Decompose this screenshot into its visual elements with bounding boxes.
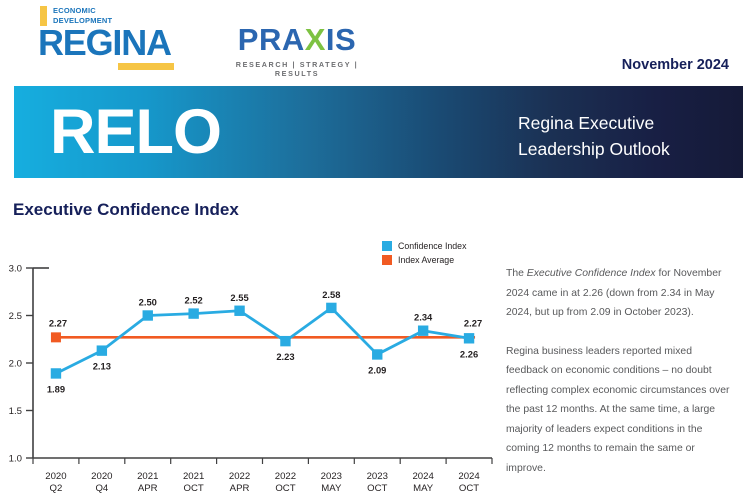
economic-development-regina-logo: ECONOMIC DEVELOPMENT REGINA — [14, 6, 184, 70]
commentary-p1-emphasis: Executive Confidence Index — [527, 268, 656, 279]
legend-swatch-confidence-index — [382, 241, 392, 251]
x-tick-label-period: Q2 — [50, 483, 63, 494]
confidence-index-point — [464, 333, 474, 343]
index-average-label-right: 2.27 — [464, 317, 482, 328]
commentary-paragraph-2: Regina business leaders reported mixed f… — [506, 342, 734, 479]
banner-title: RELO — [50, 96, 221, 168]
praxis-wordmark-pre: PRA — [238, 22, 305, 57]
ed-eyebrow-line1: ECONOMIC — [53, 6, 112, 16]
commentary-paragraph-1: The Executive Confidence Index for Novem… — [506, 264, 734, 323]
x-tick-label-period: OCT — [459, 483, 479, 494]
confidence-index-data-label: 2.55 — [230, 292, 248, 303]
page-header: ECONOMIC DEVELOPMENT REGINA PRAXIS RESEA… — [0, 0, 743, 86]
legend-swatch-index-average — [382, 255, 392, 265]
x-tick-label-period: OCT — [275, 483, 295, 494]
confidence-index-data-label: 2.23 — [276, 351, 294, 362]
page-title: Executive Confidence Index — [13, 200, 239, 220]
confidence-index-point — [280, 336, 290, 346]
confidence-index-data-label: 2.58 — [322, 289, 340, 300]
x-tick-label-year: 2021 — [137, 471, 158, 482]
x-tick-label-period: MAY — [321, 483, 342, 494]
chart-legend: Confidence Index Index Average — [382, 239, 466, 267]
x-tick-label-period: APR — [138, 483, 158, 494]
report-date: November 2024 — [622, 57, 729, 73]
legend-label-confidence-index: Confidence Index — [398, 241, 466, 251]
y-tick-label: 2.5 — [9, 311, 22, 322]
confidence-index-point — [188, 308, 198, 318]
x-tick-label-period: Q4 — [95, 483, 108, 494]
confidence-index-point — [51, 368, 61, 378]
confidence-index-point — [372, 349, 382, 359]
index-average-label-left: 2.27 — [49, 317, 67, 328]
x-tick-label-year: 2023 — [321, 471, 342, 482]
confidence-index-chart: 1.01.52.02.53.02020Q22020Q42021APR2021OC… — [0, 232, 500, 494]
legend-label-index-average: Index Average — [398, 255, 454, 265]
x-tick-label-period: APR — [230, 483, 250, 494]
banner-subtitle-line2: Leadership Outlook — [518, 136, 670, 162]
x-tick-label-year: 2020 — [45, 471, 66, 482]
confidence-index-point — [418, 326, 428, 336]
praxis-wordmark: PRAXIS — [212, 24, 382, 56]
chart-svg: 1.01.52.02.53.02020Q22020Q42021APR2021OC… — [0, 232, 500, 494]
commentary-p1-pre: The — [506, 268, 527, 279]
praxis-wordmark-post: IS — [326, 22, 356, 57]
banner-subtitle: Regina Executive Leadership Outlook — [518, 110, 670, 162]
confidence-index-point — [326, 303, 336, 313]
confidence-index-line — [56, 308, 469, 374]
index-average-marker — [51, 332, 61, 342]
y-tick-label: 3.0 — [9, 263, 22, 274]
legend-item-index-average: Index Average — [382, 253, 466, 267]
confidence-index-data-label: 2.13 — [93, 361, 111, 372]
x-tick-label-year: 2020 — [91, 471, 112, 482]
confidence-index-data-label: 2.09 — [368, 364, 386, 375]
confidence-index-data-label: 2.26 — [460, 348, 478, 359]
x-tick-label-year: 2023 — [367, 471, 388, 482]
praxis-logo: PRAXIS RESEARCH | STRATEGY | RESULTS — [212, 24, 382, 78]
praxis-wordmark-x: X — [305, 22, 326, 57]
y-tick-label: 2.0 — [9, 358, 22, 369]
confidence-index-point — [143, 310, 153, 320]
x-tick-label-year: 2024 — [412, 471, 434, 482]
x-tick-label-year: 2024 — [458, 471, 480, 482]
commentary-column: The Executive Confidence Index for Novem… — [506, 264, 734, 497]
relo-banner: RELO Regina Executive Leadership Outlook — [14, 86, 743, 178]
x-tick-label-year: 2021 — [183, 471, 204, 482]
confidence-index-data-label: 2.34 — [414, 312, 433, 323]
regina-underline-icon — [118, 63, 174, 70]
x-tick-label-year: 2022 — [229, 471, 250, 482]
x-tick-label-period: OCT — [184, 483, 204, 494]
confidence-index-point — [97, 345, 107, 355]
banner-subtitle-line1: Regina Executive — [518, 110, 670, 136]
x-tick-label-period: MAY — [413, 483, 434, 494]
confidence-index-point — [234, 306, 244, 316]
regina-wordmark: REGINA — [38, 24, 184, 62]
x-tick-label-year: 2022 — [275, 471, 296, 482]
y-tick-label: 1.5 — [9, 406, 22, 417]
praxis-tagline: RESEARCH | STRATEGY | RESULTS — [212, 60, 382, 78]
legend-item-confidence-index: Confidence Index — [382, 239, 466, 253]
confidence-index-data-label: 2.50 — [139, 297, 157, 308]
confidence-index-data-label: 1.89 — [47, 383, 65, 394]
y-tick-label: 1.0 — [9, 453, 22, 464]
x-tick-label-period: OCT — [367, 483, 387, 494]
confidence-index-data-label: 2.52 — [185, 295, 203, 306]
